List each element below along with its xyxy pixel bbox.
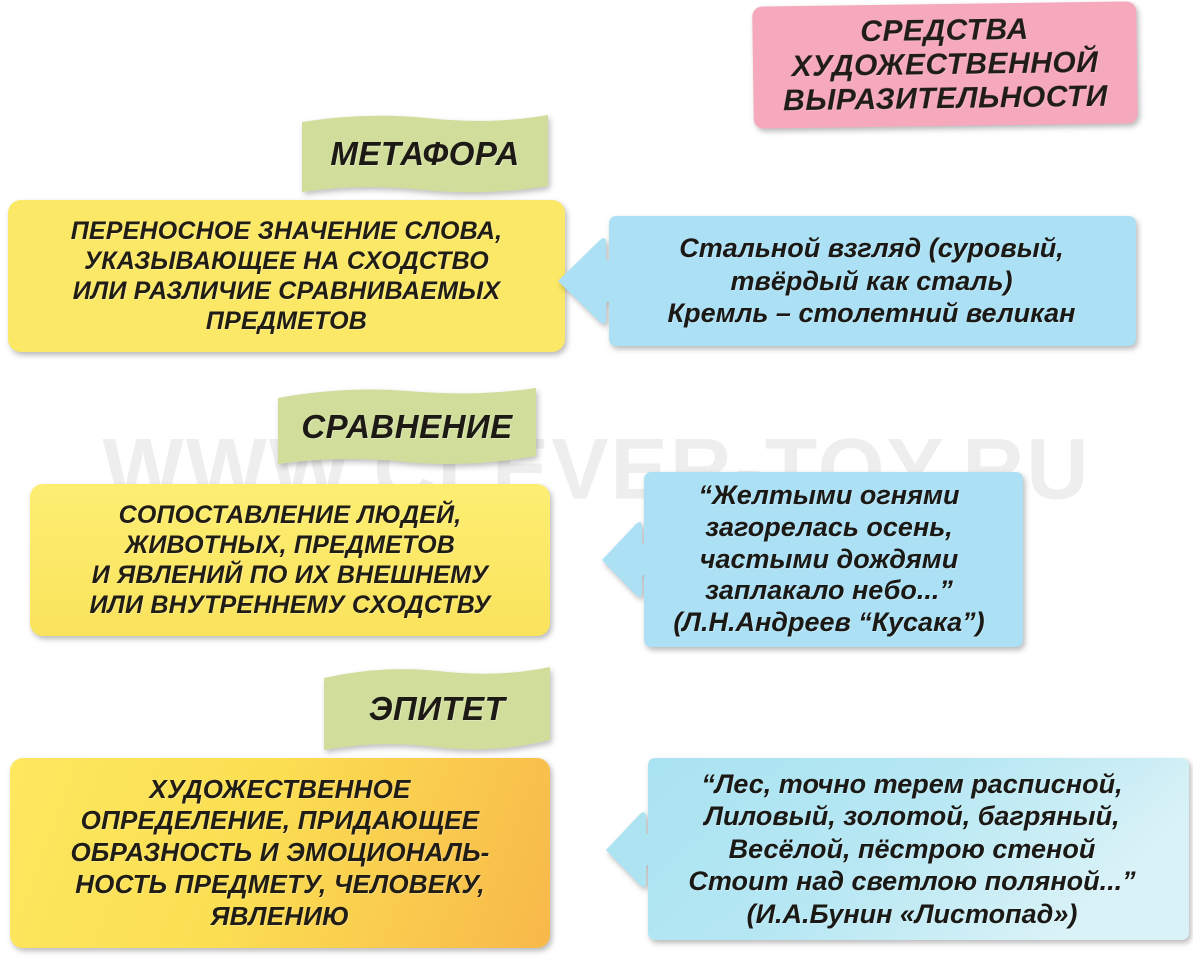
definition-card-comparison: СОПОСТАВЛЕНИЕ ЛЮДЕЙ, ЖИВОТНЫХ, ПРЕДМЕТОВ…	[30, 484, 550, 636]
definition-text: СОПОСТАВЛЕНИЕ ЛЮДЕЙ, ЖИВОТНЫХ, ПРЕДМЕТОВ…	[89, 500, 490, 620]
term-card-epithet: ЭПИТЕТ	[318, 664, 556, 754]
definition-text: ХУДОЖЕСТВЕННОЕ ОПРЕДЕЛЕНИЕ, ПРИДАЮЩЕЕ ОБ…	[70, 774, 489, 933]
diagram-title-card: СРЕДСТВА ХУДОЖЕСТВЕННОЙ ВЫРАЗИТЕЛЬНОСТИ	[752, 1, 1138, 128]
example-card-comparison: “Желтыми огнями загорелась осень, частым…	[600, 468, 1024, 651]
term-label: СРАВНЕНИЕ	[301, 408, 512, 446]
example-text: “Желтыми огнями загорелась осень, частым…	[642, 468, 1016, 651]
term-card-metaphor: МЕТАФОРА	[296, 112, 554, 196]
definition-text: ПЕРЕНОСНОЕ ЗНАЧЕНИЕ СЛОВА, УКАЗЫВАЮЩЕЕ Н…	[71, 216, 503, 336]
term-label: МЕТАФОРА	[330, 135, 519, 173]
page-title: СРЕДСТВА ХУДОЖЕСТВЕННОЙ ВЫРАЗИТЕЛЬНОСТИ	[782, 12, 1108, 118]
term-card-comparison: СРАВНЕНИЕ	[272, 386, 542, 468]
diagram-board: WWW.CLEVER-TOY.RU СРЕДСТВА ХУДОЖЕСТВЕННО…	[0, 0, 1193, 960]
example-text: “Лес, точно терем расписной, Лиловый, зо…	[644, 754, 1180, 944]
definition-card-metaphor: ПЕРЕНОСНОЕ ЗНАЧЕНИЕ СЛОВА, УКАЗЫВАЮЩЕЕ Н…	[8, 200, 565, 352]
term-label: ЭПИТЕТ	[369, 690, 506, 728]
definition-card-epithet: ХУДОЖЕСТВЕННОЕ ОПРЕДЕЛЕНИЕ, ПРИДАЮЩЕЕ ОБ…	[10, 758, 550, 948]
example-card-metaphor: Стальной взгляд (суровый, твёрдый как ст…	[556, 212, 1137, 350]
example-text: Стальной взгляд (суровый, твёрдый как ст…	[616, 212, 1127, 350]
example-card-epithet: “Лес, точно терем расписной, Лиловый, зо…	[604, 754, 1190, 944]
